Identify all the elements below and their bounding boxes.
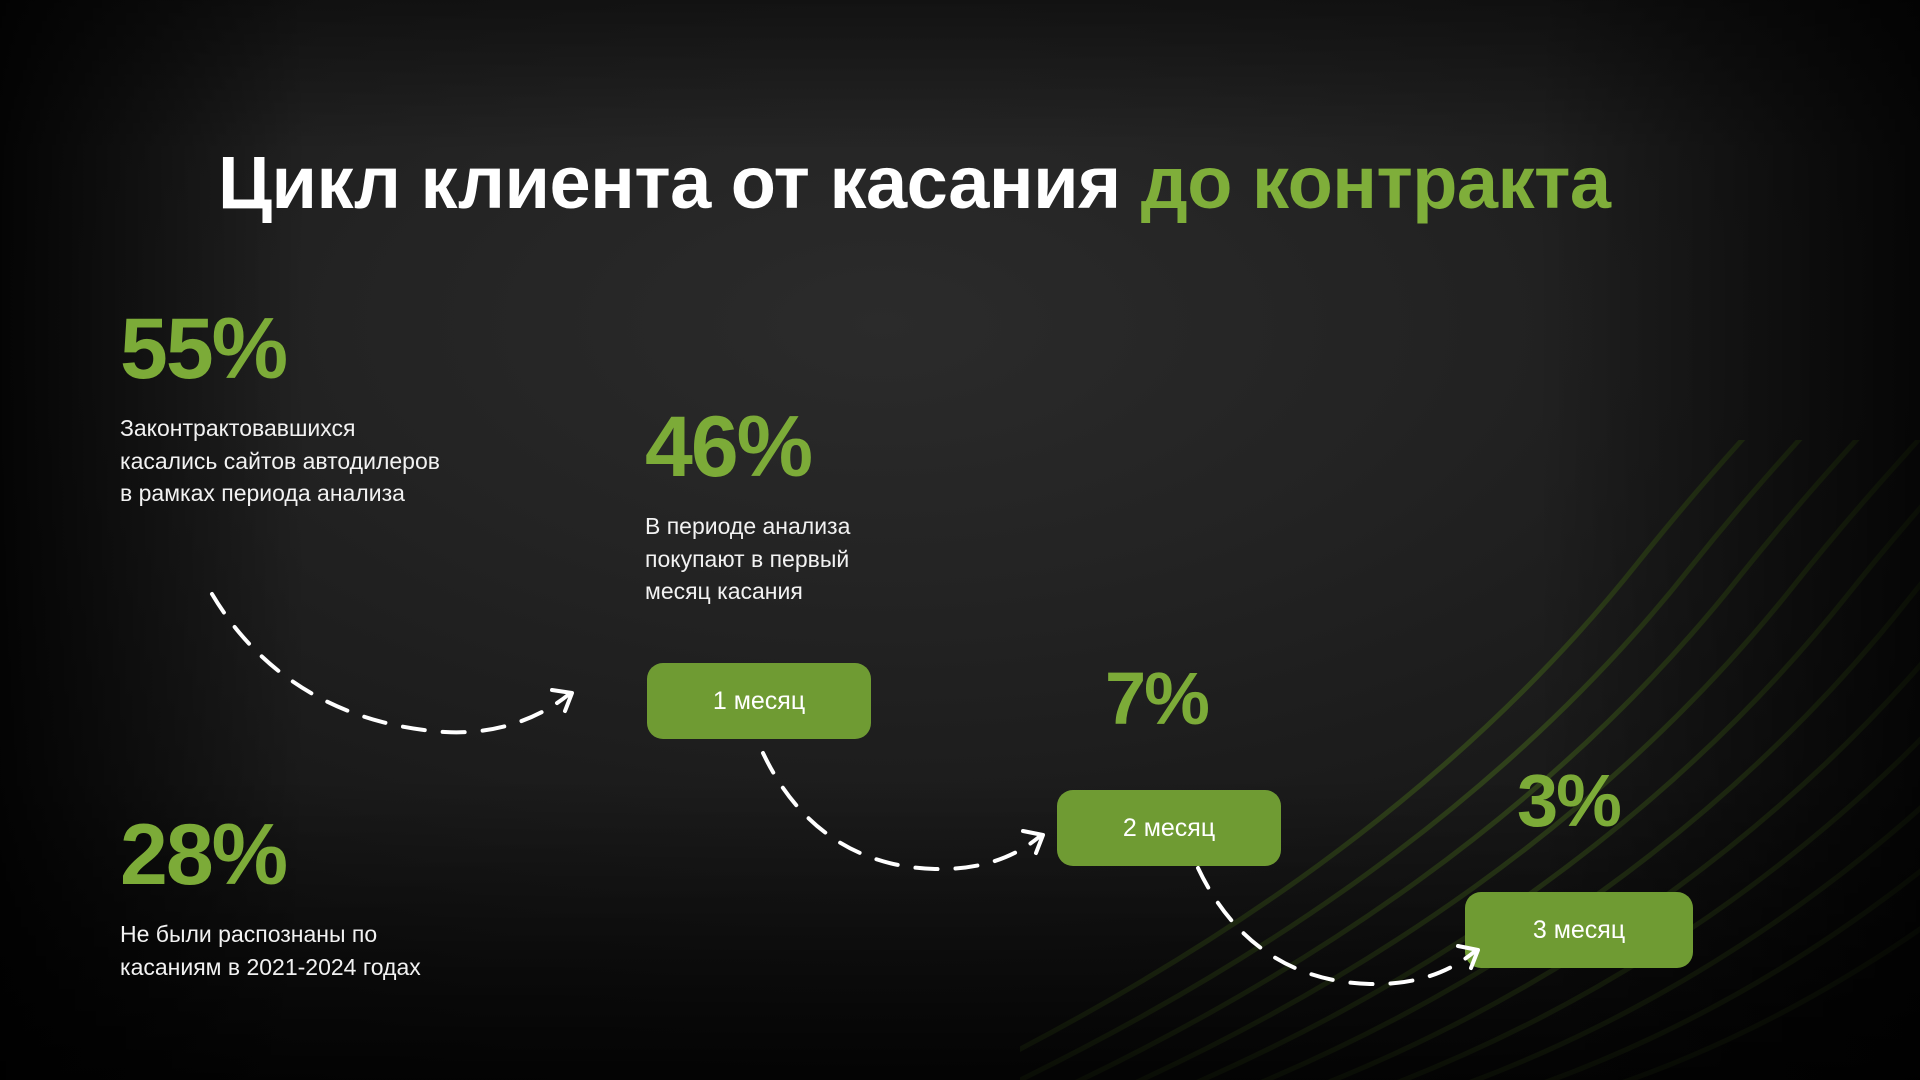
stat-value-3: 3% bbox=[1517, 759, 1620, 842]
stat-block-46: 46% В периоде анализа покупают в первый … bbox=[645, 404, 945, 608]
funnel-pill-month-3-label: 3 месяц bbox=[1533, 916, 1625, 945]
stat-value-55: 55% bbox=[120, 306, 560, 392]
funnel-pill-month-3[interactable]: 3 месяц bbox=[1465, 892, 1693, 968]
page-title-accent: до контракта bbox=[1141, 141, 1611, 224]
stat-description-46: В периоде анализа покупают в первый меся… bbox=[645, 510, 945, 608]
stat-description-55: Законтрактовавшихся касались сайтов авто… bbox=[120, 412, 560, 510]
stat-value-28: 28% bbox=[120, 812, 540, 898]
funnel-pill-month-1-label: 1 месяц bbox=[713, 687, 805, 716]
stat-block-28: 28% Не были распознаны по касаниям в 202… bbox=[120, 812, 540, 983]
page-title-main: Цикл клиента от касания bbox=[218, 141, 1141, 224]
funnel-pill-month-1[interactable]: 1 месяц bbox=[647, 663, 871, 739]
funnel-pill-month-2-label: 2 месяц bbox=[1123, 814, 1215, 843]
page-title: Цикл клиента от касания до контракта bbox=[218, 142, 1611, 225]
stat-value-46: 46% bbox=[645, 404, 945, 490]
stat-block-7: 7% bbox=[1105, 662, 1208, 736]
stat-block-55: 55% Законтрактовавшихся касались сайтов … bbox=[120, 306, 560, 510]
stat-block-3: 3% bbox=[1517, 764, 1620, 838]
stat-description-28: Не были распознаны по касаниям в 2021-20… bbox=[120, 918, 540, 983]
funnel-pill-month-2[interactable]: 2 месяц bbox=[1057, 790, 1281, 866]
stat-value-7: 7% bbox=[1105, 657, 1208, 740]
